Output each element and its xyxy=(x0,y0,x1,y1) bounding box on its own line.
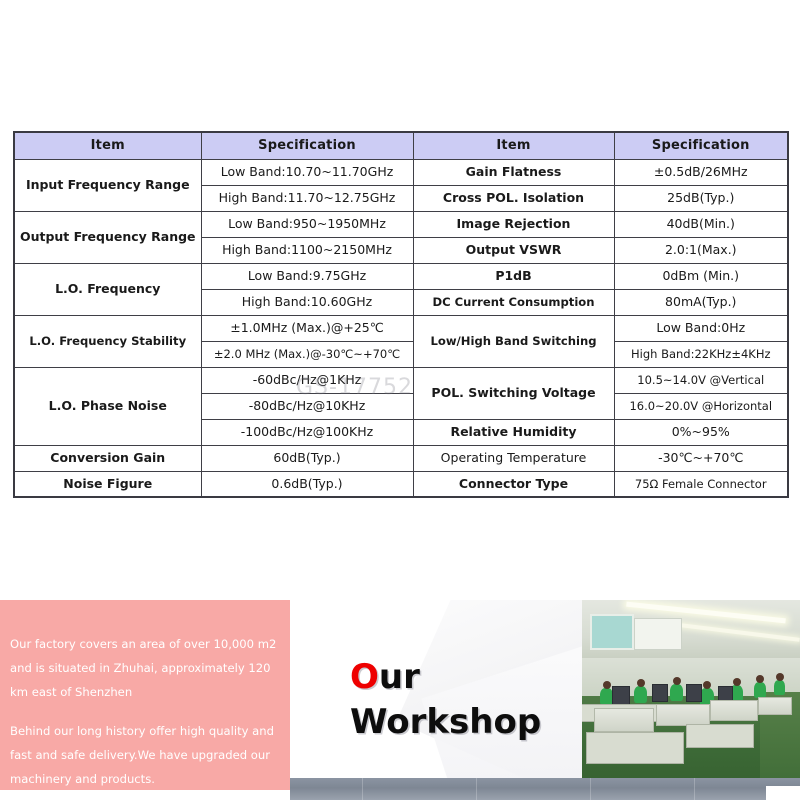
table-header-row: Item Specification Item Specification xyxy=(14,132,788,159)
photo-worker xyxy=(670,684,683,701)
value-conversion-gain: 60dB(Typ.) xyxy=(201,445,413,471)
value-connector-type: 75Ω Female Connector xyxy=(614,471,788,497)
workshop-title-panel: Our Workshop xyxy=(290,600,585,778)
table-row: L.O. Frequency Stability ±1.0MHz (Max.)@… xyxy=(14,315,788,341)
table-row: Noise Figure 0.6dB(Typ.) Connector Type … xyxy=(14,471,788,497)
value-phase-noise-1k: -60dBc/Hz@1KHz xyxy=(201,367,413,393)
header-item-left: Item xyxy=(14,132,201,159)
item-dc-current-consumption: DC Current Consumption xyxy=(413,289,614,315)
photo-bench xyxy=(710,700,758,721)
item-p1db: P1dB xyxy=(413,263,614,289)
item-cross-pol-isolation: Cross POL. Isolation xyxy=(413,185,614,211)
value-band-switching-low: Low Band:0Hz xyxy=(614,315,788,341)
table-row: Input Frequency Range Low Band:10.70~11.… xyxy=(14,159,788,185)
value-pol-voltage-horizontal: 16.0~20.0V @Horizontal xyxy=(614,393,788,419)
photo-bench xyxy=(586,732,684,764)
banner-corner-notch xyxy=(766,786,800,800)
value-output-frequency-low: Low Band:950~1950MHz xyxy=(201,211,413,237)
value-phase-noise-10k: -80dBc/Hz@10KHz xyxy=(201,393,413,419)
value-noise-figure: 0.6dB(Typ.) xyxy=(201,471,413,497)
photo-bench xyxy=(758,697,792,715)
workshop-title: Our Workshop xyxy=(350,655,541,745)
specification-table-container: Item Specification Item Specification In… xyxy=(13,131,787,498)
item-conversion-gain: Conversion Gain xyxy=(14,445,201,471)
item-relative-humidity: Relative Humidity xyxy=(413,419,614,445)
value-phase-noise-100k: -100dBc/Hz@100KHz xyxy=(201,419,413,445)
factory-description-panel: Our factory covers an area of over 10,00… xyxy=(0,600,290,790)
value-relative-humidity: 0%~95% xyxy=(614,419,788,445)
item-lo-frequency: L.O. Frequency xyxy=(14,263,201,315)
item-image-rejection: Image Rejection xyxy=(413,211,614,237)
item-connector-type: Connector Type xyxy=(413,471,614,497)
workshop-title-rest: ur xyxy=(379,657,420,697)
specification-table: Item Specification Item Specification In… xyxy=(13,131,789,498)
workshop-title-line2: Workshop xyxy=(350,702,541,742)
value-input-frequency-low: Low Band:10.70~11.70GHz xyxy=(201,159,413,185)
photo-monitor xyxy=(652,684,668,702)
value-cross-pol-isolation: 25dB(Typ.) xyxy=(614,185,788,211)
value-input-frequency-high: High Band:11.70~12.75GHz xyxy=(201,185,413,211)
item-low-high-band-switching: Low/High Band Switching xyxy=(413,315,614,367)
item-input-frequency-range: Input Frequency Range xyxy=(14,159,201,211)
value-image-rejection: 40dB(Min.) xyxy=(614,211,788,237)
value-dc-current-consumption: 80mA(Typ.) xyxy=(614,289,788,315)
factory-paragraph-1: Our factory covers an area of over 10,00… xyxy=(10,633,285,704)
value-lo-frequency-low: Low Band:9.75GHz xyxy=(201,263,413,289)
photo-monitor xyxy=(686,684,702,702)
header-specification-right: Specification xyxy=(614,132,788,159)
photo-notice-board xyxy=(590,614,634,650)
value-lo-stability-2: ±2.0 MHz (Max.)@-30℃~+70℃ xyxy=(201,341,413,367)
photo-worker xyxy=(634,686,647,703)
value-output-frequency-high: High Band:1100~2150MHz xyxy=(201,237,413,263)
item-gain-flatness: Gain Flatness xyxy=(413,159,614,185)
banner-floor-strip xyxy=(290,778,800,800)
value-operating-temperature: -30℃~+70℃ xyxy=(614,445,788,471)
table-row: Conversion Gain 60dB(Typ.) Operating Tem… xyxy=(14,445,788,471)
workshop-photo xyxy=(582,600,800,790)
factory-banner: Our factory covers an area of over 10,00… xyxy=(0,600,800,800)
item-operating-temperature: Operating Temperature xyxy=(413,445,614,471)
value-pol-voltage-vertical: 10.5~14.0V @Vertical xyxy=(614,367,788,393)
item-output-frequency-range: Output Frequency Range xyxy=(14,211,201,263)
photo-bench xyxy=(594,708,654,732)
table-row: L.O. Frequency Low Band:9.75GHz P1dB 0dB… xyxy=(14,263,788,289)
item-pol-switching-voltage: POL. Switching Voltage xyxy=(413,367,614,419)
value-gain-flatness: ±0.5dB/26MHz xyxy=(614,159,788,185)
header-item-right: Item xyxy=(413,132,614,159)
photo-worker xyxy=(754,682,766,698)
item-output-vswr: Output VSWR xyxy=(413,237,614,263)
photo-bench xyxy=(686,724,754,748)
value-output-vswr: 2.0:1(Max.) xyxy=(614,237,788,263)
photo-whiteboard xyxy=(634,618,682,650)
value-lo-frequency-high: High Band:10.60GHz xyxy=(201,289,413,315)
value-band-switching-high: High Band:22KHz±4KHz xyxy=(614,341,788,367)
value-lo-stability-1: ±1.0MHz (Max.)@+25℃ xyxy=(201,315,413,341)
factory-paragraph-2: Behind our long history offer high quali… xyxy=(10,720,285,791)
table-row: L.O. Phase Noise -60dBc/Hz@1KHz POL. Swi… xyxy=(14,367,788,393)
photo-bench xyxy=(656,704,710,726)
photo-monitor xyxy=(612,686,630,706)
item-noise-figure: Noise Figure xyxy=(14,471,201,497)
workshop-title-initial: O xyxy=(350,657,379,697)
photo-worker xyxy=(774,680,785,695)
item-lo-phase-noise: L.O. Phase Noise xyxy=(14,367,201,445)
item-lo-frequency-stability: L.O. Frequency Stability xyxy=(14,315,201,367)
header-specification-left: Specification xyxy=(201,132,413,159)
value-p1db: 0dBm (Min.) xyxy=(614,263,788,289)
table-row: Output Frequency Range Low Band:950~1950… xyxy=(14,211,788,237)
